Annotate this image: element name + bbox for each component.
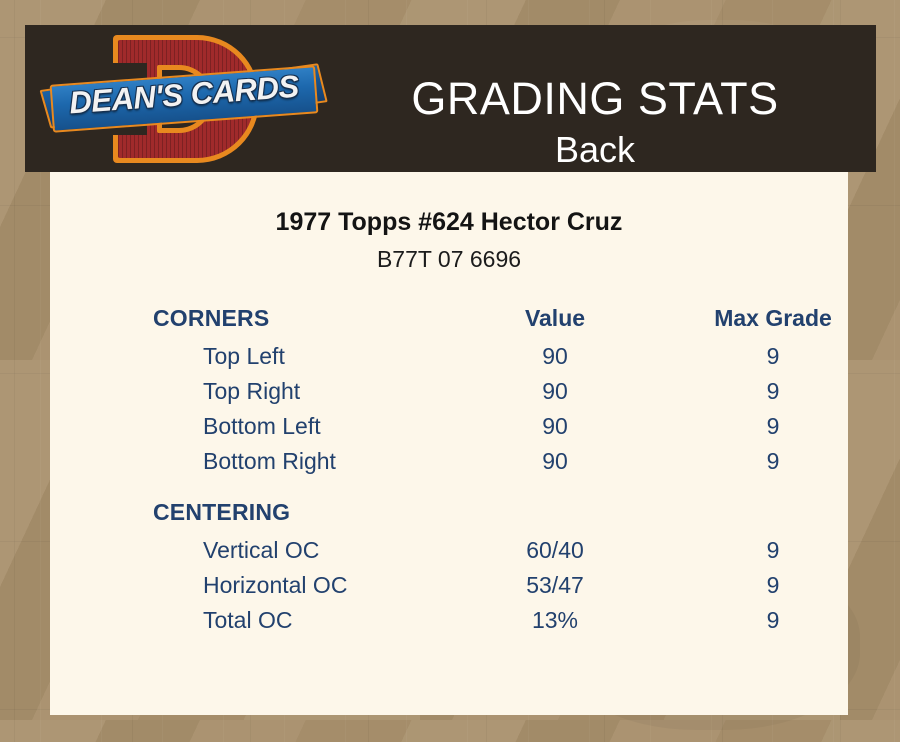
row-max-grade: 9 bbox=[653, 448, 893, 475]
row-value: 90 bbox=[455, 413, 655, 440]
row-max-grade: 9 bbox=[653, 378, 893, 405]
row-value: 90 bbox=[455, 378, 655, 405]
row-value: 13% bbox=[455, 607, 655, 634]
logo-ribbon-icon: DEAN'S CARDS bbox=[45, 69, 323, 131]
row-value: 90 bbox=[455, 448, 655, 475]
content-panel: 1977 Topps #624 Hector Cruz B77T 07 6696… bbox=[50, 172, 848, 715]
row-max-grade: 9 bbox=[653, 572, 893, 599]
header-bar: DEAN'S CARDS GRADING STATS Back bbox=[25, 25, 876, 172]
page-subtitle: Back bbox=[325, 129, 865, 171]
row-max-grade: 9 bbox=[653, 413, 893, 440]
card-title: 1977 Topps #624 Hector Cruz bbox=[50, 208, 848, 237]
row-label: Horizontal OC bbox=[203, 572, 347, 599]
card-serial-number: B77T 07 6696 bbox=[50, 246, 848, 273]
column-header-value: Value bbox=[455, 305, 655, 332]
table-row: Top Left 90 9 bbox=[50, 343, 848, 378]
row-value: 60/40 bbox=[455, 537, 655, 564]
row-value: 53/47 bbox=[455, 572, 655, 599]
row-label: Total OC bbox=[203, 607, 292, 634]
table-row: Top Right 90 9 bbox=[50, 378, 848, 413]
row-label: Top Right bbox=[203, 378, 300, 405]
row-label: Top Left bbox=[203, 343, 285, 370]
table-section-header-corners: CORNERS Value Max Grade bbox=[50, 305, 848, 343]
table-section-header-centering: CENTERING bbox=[50, 499, 848, 537]
table-row: Total OC 13% 9 bbox=[50, 607, 848, 642]
row-label: Vertical OC bbox=[203, 537, 319, 564]
grading-stats-page: DEAN'S CARDS GRADING STATS Back 1977 Top… bbox=[0, 0, 900, 742]
table-row: Bottom Left 90 9 bbox=[50, 413, 848, 448]
table-row: Vertical OC 60/40 9 bbox=[50, 537, 848, 572]
row-value: 90 bbox=[455, 343, 655, 370]
table-row: Horizontal OC 53/47 9 bbox=[50, 572, 848, 607]
section-heading: CENTERING bbox=[153, 499, 290, 526]
deans-cards-logo[interactable]: DEAN'S CARDS bbox=[45, 29, 323, 169]
row-max-grade: 9 bbox=[653, 343, 893, 370]
row-max-grade: 9 bbox=[653, 537, 893, 564]
row-max-grade: 9 bbox=[653, 607, 893, 634]
row-label: Bottom Left bbox=[203, 413, 321, 440]
row-label: Bottom Right bbox=[203, 448, 336, 475]
column-header-max-grade: Max Grade bbox=[653, 305, 893, 332]
page-title: GRADING STATS bbox=[325, 73, 865, 125]
section-heading: CORNERS bbox=[153, 305, 269, 332]
table-row: Bottom Right 90 9 bbox=[50, 448, 848, 483]
grading-stats-table: CORNERS Value Max Grade Top Left 90 9 To… bbox=[50, 305, 848, 642]
